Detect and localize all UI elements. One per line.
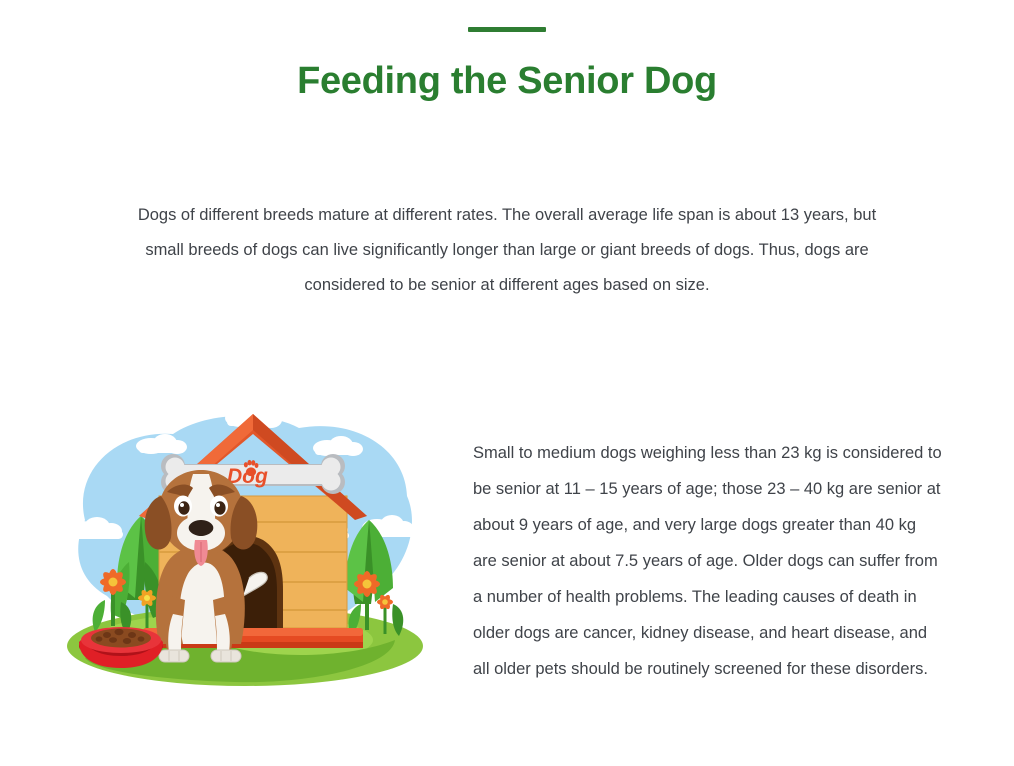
content-columns: Dog [0, 400, 1014, 766]
title-divider-rule [468, 27, 546, 32]
body-paragraph: Small to medium dogs weighing less than … [473, 435, 943, 687]
page-root: Feeding the Senior Dog Dogs of different… [0, 0, 1014, 766]
header: Feeding the Senior Dog [0, 0, 1014, 104]
page-title: Feeding the Senior Dog [0, 58, 1014, 104]
intro-paragraph: Dogs of different breeds mature at diffe… [135, 198, 879, 303]
dog-house-illustration: Dog [55, 400, 435, 690]
dog-house-illustration-svg: Dog [55, 400, 435, 690]
